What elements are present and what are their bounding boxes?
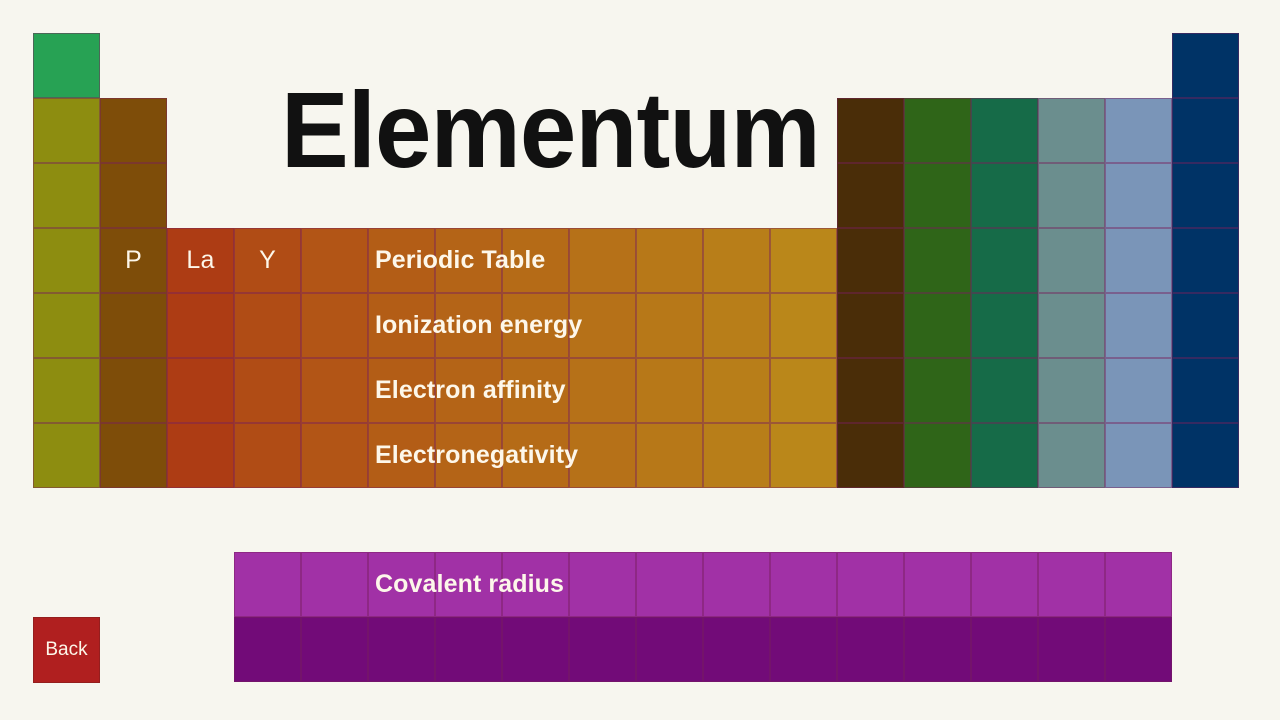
- element-cell[interactable]: [904, 423, 971, 488]
- element-cell[interactable]: [971, 617, 1038, 682]
- element-symbol: Y: [234, 228, 301, 293]
- element-cell[interactable]: [971, 552, 1038, 617]
- element-cell[interactable]: [1038, 228, 1105, 293]
- element-cell[interactable]: [1172, 293, 1239, 358]
- element-cell[interactable]: [1105, 358, 1172, 423]
- element-cell[interactable]: [1105, 163, 1172, 228]
- element-cell[interactable]: [33, 358, 100, 423]
- element-cell[interactable]: [904, 617, 971, 682]
- element-cell[interactable]: [904, 293, 971, 358]
- element-cell[interactable]: [1172, 163, 1239, 228]
- element-cell[interactable]: [904, 552, 971, 617]
- element-cell[interactable]: [167, 423, 234, 488]
- element-cell[interactable]: [234, 617, 301, 682]
- element-cell[interactable]: [1105, 617, 1172, 682]
- element-cell[interactable]: [1038, 552, 1105, 617]
- element-cell[interactable]: [1038, 358, 1105, 423]
- element-cell[interactable]: [837, 552, 904, 617]
- element-cell[interactable]: [1038, 293, 1105, 358]
- element-cell[interactable]: [703, 617, 770, 682]
- element-cell[interactable]: [435, 617, 502, 682]
- element-cell[interactable]: [33, 293, 100, 358]
- element-cell[interactable]: [1038, 163, 1105, 228]
- element-cell[interactable]: [703, 358, 770, 423]
- back-button[interactable]: Back: [33, 617, 100, 683]
- element-cell[interactable]: [837, 163, 904, 228]
- menu-item-electronegativity[interactable]: Electronegativity: [375, 423, 578, 488]
- element-cell[interactable]: [636, 617, 703, 682]
- element-cell[interactable]: [569, 228, 636, 293]
- element-cell[interactable]: [368, 617, 435, 682]
- element-cell[interactable]: [971, 293, 1038, 358]
- element-cell[interactable]: [837, 617, 904, 682]
- periodic-table-menu-screen: PLaY Elementum Periodic TableIonization …: [0, 0, 1280, 720]
- element-cell[interactable]: [770, 293, 837, 358]
- element-cell[interactable]: [904, 228, 971, 293]
- element-cell[interactable]: [1172, 228, 1239, 293]
- element-cell[interactable]: [1105, 228, 1172, 293]
- element-cell[interactable]: [301, 552, 368, 617]
- element-cell[interactable]: [1038, 98, 1105, 163]
- menu-item-periodic-table[interactable]: Periodic Table: [375, 228, 545, 293]
- element-cell[interactable]: [33, 423, 100, 488]
- helium-cell[interactable]: [1172, 33, 1239, 98]
- element-cell[interactable]: [703, 228, 770, 293]
- menu-item-covalent-radius[interactable]: Covalent radius: [375, 552, 564, 617]
- element-cell[interactable]: [636, 423, 703, 488]
- element-cell[interactable]: [100, 423, 167, 488]
- element-cell[interactable]: [301, 228, 368, 293]
- element-cell[interactable]: [703, 552, 770, 617]
- element-cell[interactable]: [636, 552, 703, 617]
- element-cell[interactable]: [234, 358, 301, 423]
- element-cell[interactable]: [234, 293, 301, 358]
- element-cell[interactable]: [1105, 552, 1172, 617]
- element-cell[interactable]: [770, 617, 837, 682]
- menu-item-electron-affinity[interactable]: Electron affinity: [375, 358, 566, 423]
- element-cell[interactable]: [569, 358, 636, 423]
- element-cell[interactable]: [569, 552, 636, 617]
- hydrogen-cell[interactable]: [33, 33, 100, 98]
- element-cell[interactable]: [837, 293, 904, 358]
- element-cell[interactable]: [1105, 423, 1172, 488]
- element-cell[interactable]: [167, 293, 234, 358]
- element-symbol: La: [167, 228, 234, 293]
- element-cell[interactable]: [636, 293, 703, 358]
- element-cell[interactable]: [703, 293, 770, 358]
- element-cell[interactable]: [703, 423, 770, 488]
- element-cell[interactable]: [971, 98, 1038, 163]
- element-cell[interactable]: [569, 423, 636, 488]
- element-cell[interactable]: [301, 617, 368, 682]
- element-cell[interactable]: [167, 358, 234, 423]
- element-cell[interactable]: [100, 358, 167, 423]
- menu-item-ionization-energy[interactable]: Ionization energy: [375, 293, 582, 358]
- element-cell[interactable]: [1105, 293, 1172, 358]
- element-cell[interactable]: [904, 98, 971, 163]
- element-cell[interactable]: [770, 423, 837, 488]
- element-cell[interactable]: [837, 358, 904, 423]
- element-cell[interactable]: [569, 617, 636, 682]
- element-cell[interactable]: [770, 552, 837, 617]
- element-symbol: P: [100, 228, 167, 293]
- element-cell[interactable]: [100, 293, 167, 358]
- element-cell[interactable]: [301, 293, 368, 358]
- element-cell[interactable]: [837, 228, 904, 293]
- element-cell[interactable]: [837, 98, 904, 163]
- element-cell[interactable]: [904, 163, 971, 228]
- element-cell[interactable]: [770, 228, 837, 293]
- element-cell[interactable]: [971, 423, 1038, 488]
- element-cell[interactable]: [234, 552, 301, 617]
- element-cell[interactable]: [1172, 423, 1239, 488]
- element-cell[interactable]: [636, 358, 703, 423]
- element-cell[interactable]: [33, 228, 100, 293]
- element-cell[interactable]: [1105, 98, 1172, 163]
- element-cell[interactable]: [301, 358, 368, 423]
- element-cell[interactable]: [1038, 617, 1105, 682]
- element-cell[interactable]: [502, 617, 569, 682]
- element-cell[interactable]: [234, 423, 301, 488]
- element-cell[interactable]: [100, 98, 167, 163]
- element-cell[interactable]: [1172, 358, 1239, 423]
- element-cell[interactable]: [100, 163, 167, 228]
- element-cell[interactable]: [837, 423, 904, 488]
- element-cell[interactable]: [636, 228, 703, 293]
- element-cell[interactable]: [904, 358, 971, 423]
- element-cell[interactable]: [971, 358, 1038, 423]
- element-cell[interactable]: [33, 163, 100, 228]
- page-title: Elementum: [281, 74, 699, 186]
- element-cell[interactable]: [1038, 423, 1105, 488]
- element-cell[interactable]: [971, 228, 1038, 293]
- element-cell[interactable]: [971, 163, 1038, 228]
- element-cell[interactable]: [770, 358, 837, 423]
- element-cell[interactable]: [1172, 98, 1239, 163]
- element-cell[interactable]: [33, 98, 100, 163]
- element-cell[interactable]: [301, 423, 368, 488]
